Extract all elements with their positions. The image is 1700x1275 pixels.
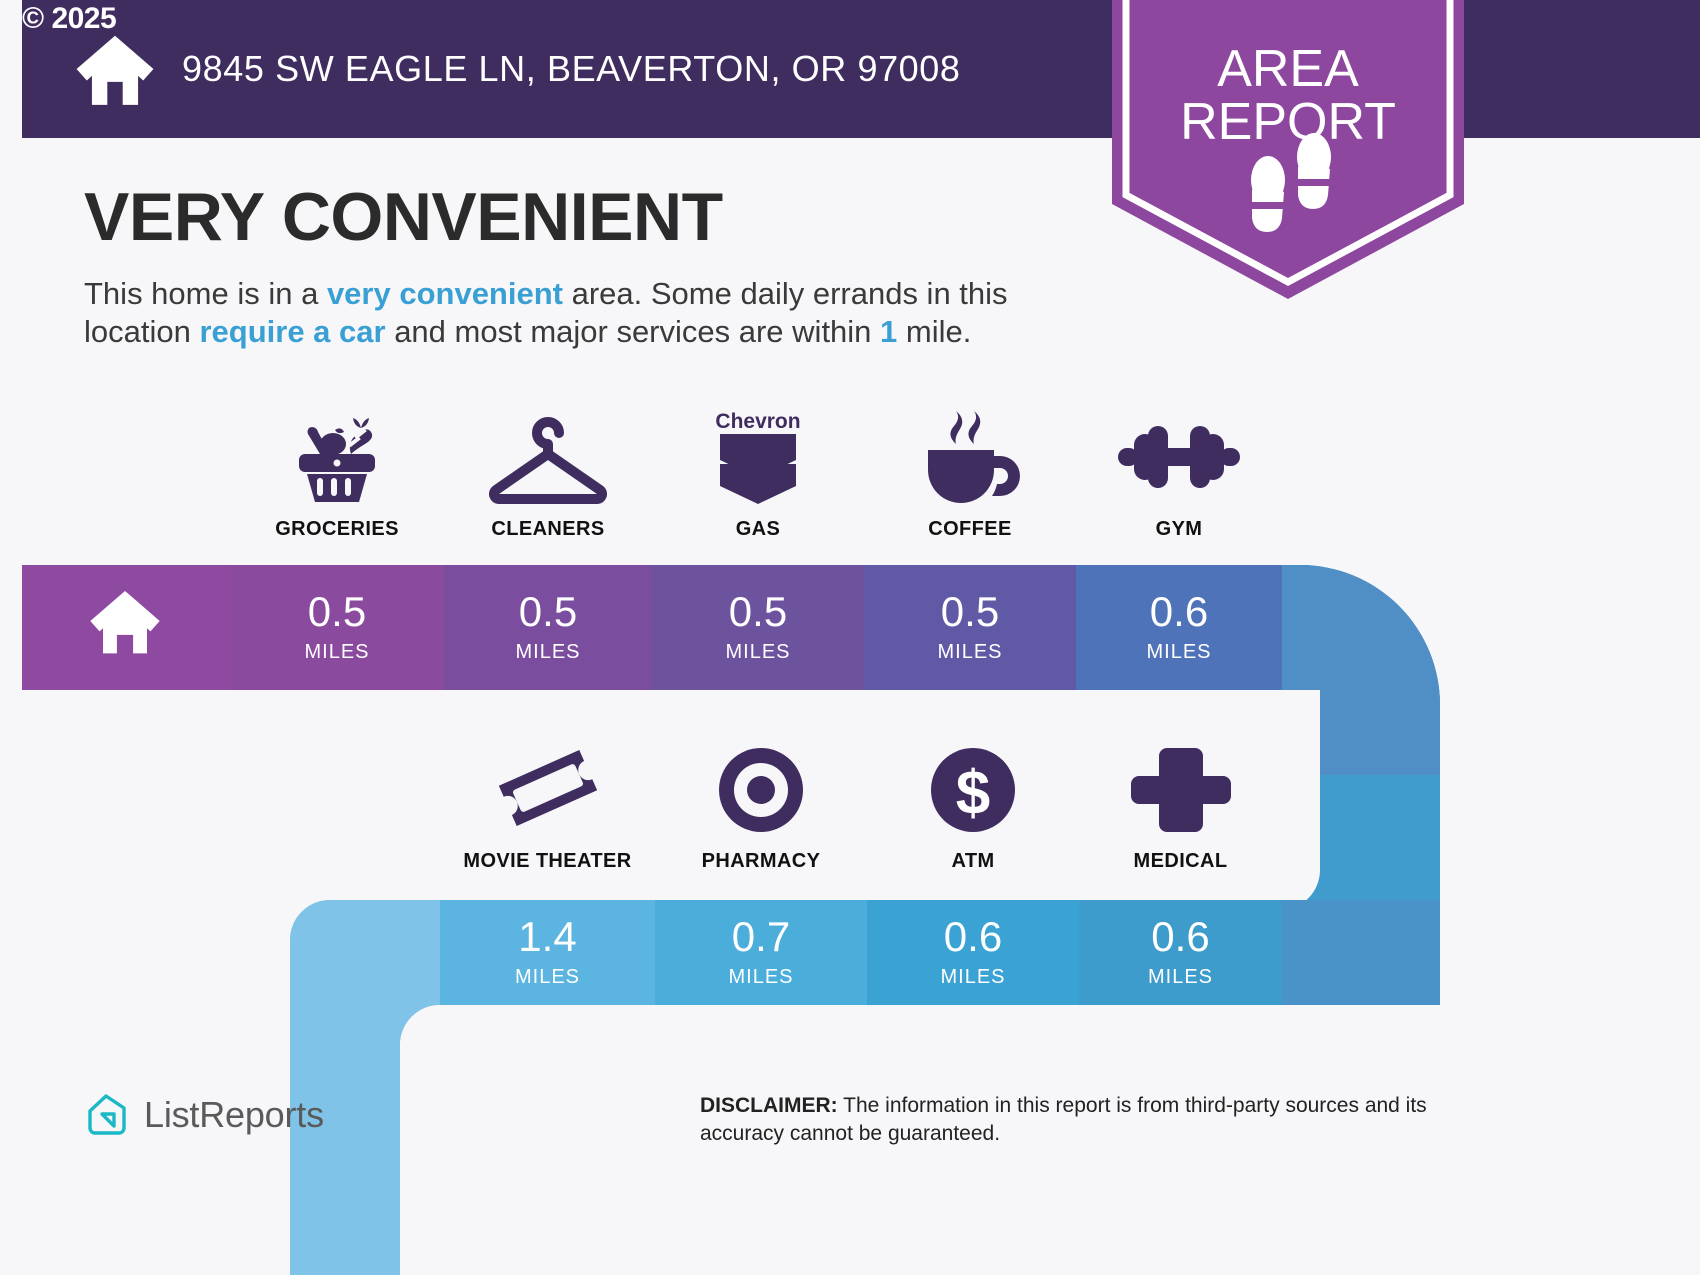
distance-value: 0.7 [732,916,790,958]
listreports-wordmark: ListReports [144,1094,324,1136]
distance-cell-cleaners: 0.5 MILES [444,565,652,690]
category-label: GYM [1156,518,1203,541]
grocery-basket-icon [285,408,389,504]
category-label: ATM [951,850,994,873]
distance-cell-coffee: 0.5 MILES [864,565,1076,690]
distance-cell-gym: 0.6 MILES [1076,565,1282,690]
category-atm: $ ATM [867,740,1079,873]
category-groceries: GROCERIES [230,408,444,541]
distance-cell-medical: 0.6 MILES [1079,900,1282,1005]
distance-unit: MILES [1146,641,1211,664]
category-label: COFFEE [928,518,1012,541]
medical-cross-icon [1129,740,1233,836]
distance-unit: MILES [728,966,793,989]
category-label: GAS [736,518,781,541]
svg-text:$: $ [956,759,990,828]
svg-text:Chevron: Chevron [715,410,800,433]
listreports-house-icon [84,1092,130,1138]
category-pharmacy: PHARMACY [655,740,867,873]
row2-icon-strip: MOVIE THEATER PHARMACY $ ATM [440,740,1282,873]
category-gas: Chevron GAS [652,408,864,541]
distance-value: 0.5 [519,591,577,633]
distance-unit: MILES [725,641,790,664]
distance-value: 0.5 [729,591,787,633]
distance-cell-atm: 0.6 MILES [867,900,1079,1005]
category-label: MOVIE THEATER [463,850,631,873]
distance-cell-pharmacy: 0.7 MILES [655,900,867,1005]
copyright-label: © 2025 [22,2,116,36]
category-cleaners: CLEANERS [444,408,652,541]
distance-unit: MILES [304,641,369,664]
distance-unit: MILES [937,641,1002,664]
category-label: PHARMACY [702,850,821,873]
row1-distance-values: 0.5 MILES 0.5 MILES 0.5 MILES 0.5 MILES … [230,565,1282,690]
distance-value: 0.5 [941,591,999,633]
area-report-badge: AREA REPORT [1112,0,1464,299]
distance-value: 0.6 [1151,916,1209,958]
category-label: CLEANERS [491,518,604,541]
category-coffee: COFFEE [864,408,1076,541]
distance-cell-movie-theater: 1.4 MILES [440,900,655,1005]
distance-unit: MILES [515,966,580,989]
badge-line2: REPORT [1180,93,1396,151]
category-medical: MEDICAL [1079,740,1282,873]
row2-distance-values: 1.4 MILES 0.7 MILES 0.6 MILES 0.6 MILES [440,900,1282,1005]
coffee-cup-icon [914,408,1026,504]
listreports-logo: ListReports [84,1092,324,1138]
movie-ticket-icon [488,740,608,836]
category-label: GROCERIES [275,518,399,541]
clothes-hanger-icon [483,408,613,504]
category-label: MEDICAL [1134,850,1228,873]
distance-value: 0.6 [1150,591,1208,633]
distance-cell-groceries: 0.5 MILES [230,565,444,690]
distance-value: 0.5 [308,591,366,633]
distance-unit: MILES [940,966,1005,989]
dollar-circle-icon: $ [921,740,1025,836]
chevron-gas-icon: Chevron [706,408,810,504]
dumbbell-icon [1114,408,1244,504]
category-gym: GYM [1076,408,1282,541]
area-report-page: 9845 SW EAGLE LN, BEAVERTON, OR 97008 © … [0,0,1700,1275]
row1-icon-strip: GROCERIES CLEANERS Chevron [230,408,1282,541]
distance-unit: MILES [1148,966,1213,989]
badge-line1: AREA [1217,40,1359,98]
category-movie-theater: MOVIE THEATER [440,740,655,873]
distance-value: 0.6 [944,916,1002,958]
home-marker-icon [88,588,162,654]
distance-value: 1.4 [518,916,576,958]
disclaimer-label: DISCLAIMER: [700,1094,838,1117]
distance-cell-gas: 0.5 MILES [652,565,864,690]
target-bullseye-icon [709,740,813,836]
distance-unit: MILES [515,641,580,664]
disclaimer: DISCLAIMER: The information in this repo… [700,1092,1500,1149]
